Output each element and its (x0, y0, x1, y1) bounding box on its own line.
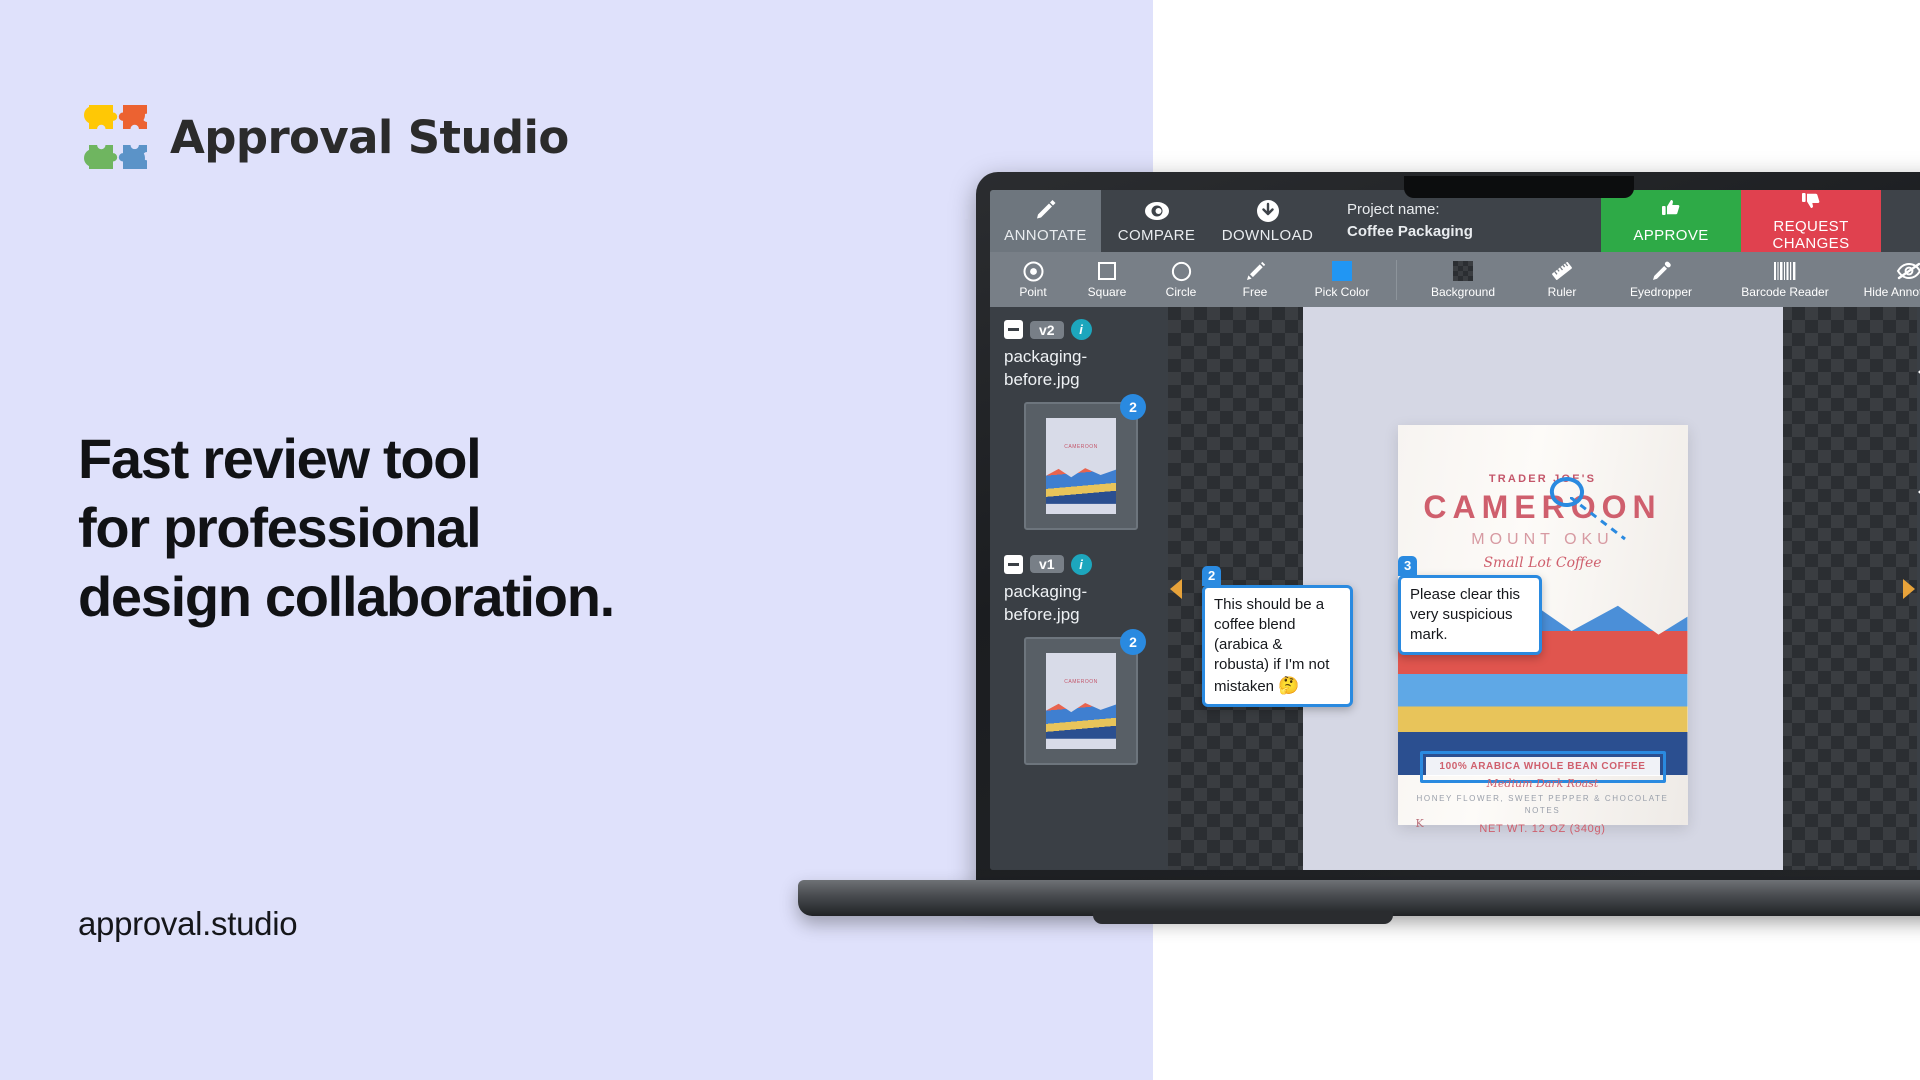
app-body: v2 i packaging-before.jpg 2 CAMEROON (990, 307, 1920, 870)
user-menu[interactable] (1881, 190, 1920, 252)
tool-free-label: Free (1243, 285, 1268, 299)
thumbnail-badge-v1: 2 (1120, 629, 1146, 655)
tool-hide-annotations[interactable]: Hide Annotations (1847, 261, 1920, 299)
barcode-icon (1773, 261, 1797, 282)
project-name-block: Project name: Coffee Packaging (1323, 190, 1474, 252)
topbar-annotate-button[interactable]: ANNOTATE (990, 190, 1101, 252)
bubble-number: 2 (1202, 566, 1221, 586)
tool-ruler-label: Ruler (1548, 285, 1577, 299)
tool-point-label: Point (1019, 285, 1046, 299)
annotation-toolbar: Point Square Circle (990, 252, 1920, 307)
headline-line-1: Fast review tool (78, 425, 614, 494)
thumbnail-image: CAMEROON (1046, 418, 1116, 514)
square-icon (1097, 261, 1117, 282)
thinking-face-icon: 🤔 (1278, 676, 1299, 695)
topbar-annotate-label: ANNOTATE (1004, 227, 1087, 244)
tool-pick-color[interactable]: Pick Color (1292, 261, 1392, 299)
tool-free[interactable]: Free (1218, 261, 1292, 299)
thumbnail-badge-v2: 2 (1120, 394, 1146, 420)
pen-icon (1245, 261, 1266, 282)
collapse-left-arrow-icon[interactable] (1170, 579, 1182, 599)
bubble-text: Please clear this very suspicious mark. (1401, 578, 1539, 652)
hero-headline: Fast review tool for professional design… (78, 425, 614, 632)
site-url[interactable]: approval.studio (78, 905, 297, 943)
poster-canvas: Approval Studio Fast review tool for pro… (0, 0, 1920, 1080)
thumbnail-image: CAMEROON (1046, 653, 1116, 749)
eye-icon (1144, 199, 1170, 224)
artwork-notes: HONEY FLOWER, SWEET PEPPER & CHOCOLATE N… (1398, 793, 1688, 817)
download-icon (1256, 199, 1280, 224)
approve-button[interactable]: APPROVE (1601, 190, 1741, 252)
version-filename-v1: packaging-before.jpg (1004, 581, 1158, 627)
artwork-corner-mark: K (1416, 817, 1424, 830)
laptop-notch (1404, 176, 1634, 198)
minus-icon[interactable] (1004, 555, 1023, 574)
tool-background[interactable]: Background (1401, 261, 1525, 299)
eye-slash-icon (1896, 261, 1920, 282)
tool-eyedropper[interactable]: Eyedropper (1599, 261, 1723, 299)
collapse-right-arrow-icon[interactable] (1903, 579, 1915, 599)
ruler-icon (1551, 261, 1573, 282)
tool-barcode-reader-label: Barcode Reader (1741, 285, 1828, 299)
circle-icon (1171, 261, 1192, 282)
artwork-roast: Medium Dark Roast (1398, 777, 1688, 790)
info-icon[interactable]: i (1071, 554, 1092, 575)
brand-logo[interactable]: Approval Studio (78, 100, 569, 174)
topbar-download-label: DOWNLOAD (1222, 227, 1314, 244)
topbar-compare-label: COMPARE (1118, 227, 1196, 244)
bubble-text: This should be a coffee blend (arabica &… (1205, 588, 1350, 704)
tool-pick-color-label: Pick Color (1315, 285, 1370, 299)
app-screen: ANNOTATE COMPARE DOWNLOAD (990, 190, 1920, 870)
tool-circle-label: Circle (1166, 285, 1197, 299)
tool-square-label: Square (1088, 285, 1127, 299)
laptop-mockup: ANNOTATE COMPARE DOWNLOAD (963, 172, 1920, 932)
laptop-base-notch (1093, 911, 1393, 924)
version-item-v2[interactable]: v2 i packaging-before.jpg 2 CAMEROON (1004, 319, 1158, 530)
tool-ruler[interactable]: Ruler (1525, 261, 1599, 299)
version-filename-v2: packaging-before.jpg (1004, 346, 1158, 392)
tool-barcode-reader[interactable]: Barcode Reader (1723, 261, 1847, 299)
eyedropper-icon (1651, 261, 1672, 282)
checkerboard-icon (1453, 261, 1473, 282)
project-name-value: Coffee Packaging (1347, 223, 1473, 240)
approve-button-label: APPROVE (1633, 227, 1708, 244)
tool-eyedropper-label: Eyedropper (1630, 285, 1692, 299)
artwork-script: Small Lot Coffee (1398, 555, 1688, 571)
thumbs-up-icon (1661, 198, 1681, 222)
tool-square[interactable]: Square (1070, 261, 1144, 299)
tool-hide-annotations-label: Hide Annotations (1864, 285, 1920, 299)
minus-icon[interactable] (1004, 320, 1023, 339)
thumbs-down-icon (1801, 190, 1821, 214)
version-header-v1: v1 i (1004, 554, 1158, 575)
annotation-leader-line (1570, 497, 1630, 541)
artwork-canvas[interactable]: TRADER JOE'S CAMEROON MOUNT OKU Small Lo… (1168, 307, 1917, 870)
topbar-download-button[interactable]: DOWNLOAD (1212, 190, 1323, 252)
topbar-spacer (1474, 190, 1601, 252)
version-thumbnail-v1[interactable]: 2 CAMEROON (1024, 637, 1138, 765)
artwork-plate: TRADER JOE'S CAMEROON MOUNT OKU Small Lo… (1303, 307, 1783, 870)
tool-background-label: Background (1431, 285, 1495, 299)
canvas-annotation-bubble-2[interactable]: 2 This should be a coffee blend (arabica… (1202, 585, 1353, 707)
version-tag-v1: v1 (1030, 555, 1064, 573)
versions-sidebar: v2 i packaging-before.jpg 2 CAMEROON (990, 307, 1168, 870)
color-swatch-icon (1332, 261, 1352, 282)
headline-line-3: design collaboration. (78, 563, 614, 632)
tool-circle[interactable]: Circle (1144, 261, 1218, 299)
artwork-brand: TRADER JOE'S (1398, 473, 1688, 485)
toolbar-divider (1396, 260, 1397, 300)
version-tag-v2: v2 (1030, 321, 1064, 339)
topbar-compare-button[interactable]: COMPARE (1101, 190, 1212, 252)
pencil-icon (1034, 199, 1058, 224)
artwork-net-weight: NET WT. 12 OZ (340g) (1398, 823, 1688, 835)
version-header-v2: v2 i (1004, 319, 1158, 340)
artwork-subtitle: MOUNT OKU (1398, 531, 1688, 549)
version-item-v1[interactable]: v1 i packaging-before.jpg 2 CAMEROON (1004, 554, 1158, 765)
laptop-lid: ANNOTATE COMPARE DOWNLOAD (976, 172, 1920, 892)
tool-point[interactable]: Point (996, 261, 1070, 299)
canvas-annotation-bubble-3[interactable]: 3 Please clear this very suspicious mark… (1398, 575, 1542, 655)
point-icon (1023, 261, 1044, 282)
artwork-title: CAMEROON (1398, 489, 1688, 526)
four-people-puzzle-logo-icon (78, 100, 152, 174)
info-icon[interactable]: i (1071, 319, 1092, 340)
project-name-label: Project name: (1347, 201, 1440, 218)
app-topbar: ANNOTATE COMPARE DOWNLOAD (990, 190, 1920, 252)
brand-logo-text: Approval Studio (170, 111, 569, 164)
request-changes-label: REQUEST CHANGES (1741, 218, 1881, 253)
bubble-number: 3 (1398, 556, 1417, 576)
version-thumbnail-v2[interactable]: 2 CAMEROON (1024, 402, 1138, 530)
headline-line-2: for professional (78, 494, 614, 563)
request-changes-button[interactable]: REQUEST CHANGES (1741, 190, 1881, 252)
